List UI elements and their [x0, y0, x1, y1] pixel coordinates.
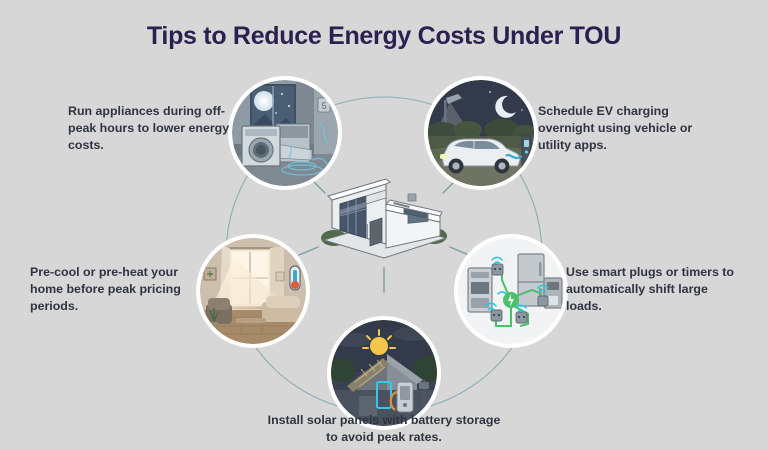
center-house: [316, 166, 452, 262]
caption-solar-battery: Install solar panels with battery storag…: [264, 412, 504, 446]
modern-house-illustration: [316, 166, 452, 262]
node-smart-plugs[interactable]: [458, 238, 564, 344]
caption-off-peak-appliances: Run appliances during off-peak hours to …: [68, 103, 236, 154]
caption-pre-cool-pre-heat: Pre-cool or pre-heat your home before pe…: [30, 264, 202, 315]
solar-panel-roof-battery-icon: [331, 320, 437, 426]
sunlit-living-room-thermostat-icon: [200, 238, 306, 344]
node-pre-cool-pre-heat[interactable]: [200, 238, 306, 344]
svg-text:5: 5: [321, 101, 326, 111]
infographic-canvas: Tips to Reduce Energy Costs Under TOU: [0, 0, 768, 450]
caption-ev-charging: Schedule EV charging overnight using veh…: [538, 103, 718, 154]
smart-plugs-wifi-appliances-icon: [458, 238, 564, 344]
caption-smart-plugs: Use smart plugs or timers to automatical…: [566, 264, 742, 315]
node-solar-battery[interactable]: [331, 320, 437, 426]
